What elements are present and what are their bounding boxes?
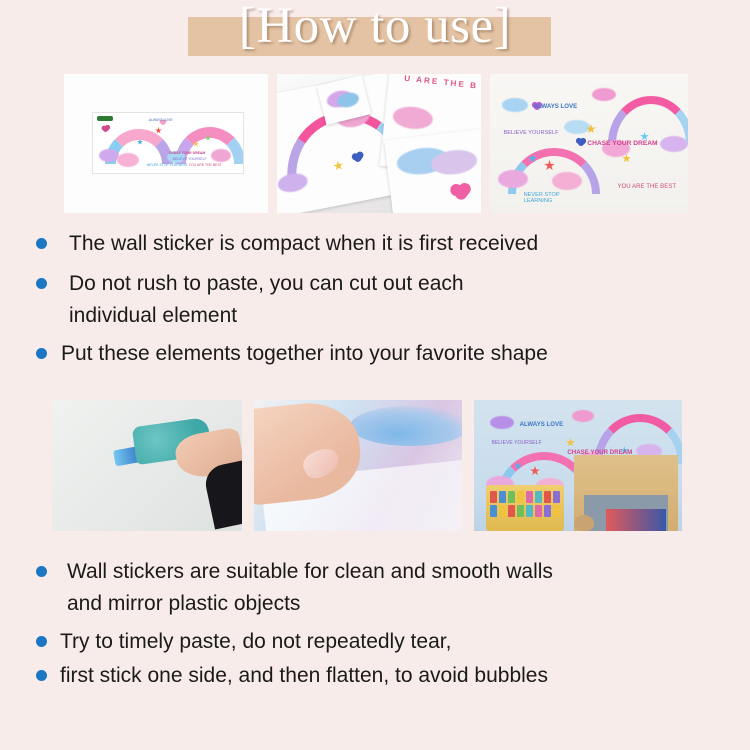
shelf-item: [526, 491, 533, 503]
cloud-blob: [572, 410, 594, 422]
shelf-item: [535, 505, 542, 517]
cloud-blob: [502, 98, 528, 112]
photo-arranged-wall-decal: ALWAYS LOVE BELIEVE YOURSELF CHASE YOUR …: [490, 74, 688, 213]
cloud-blob: [490, 416, 514, 429]
cloud-blob: [564, 120, 590, 134]
shelf-item: [517, 491, 524, 503]
instructions-list-bottom: Wall stickers are suitable for clean and…: [36, 556, 726, 692]
brand-label-badge: [97, 116, 113, 121]
sticker-phrase-you-are-the-best: YOU ARE THE BEST: [617, 184, 676, 190]
cloud-blob: [552, 172, 582, 190]
cloud-blob: [99, 149, 119, 162]
instruction-text: Wall stickers are suitable for clean and…: [67, 556, 553, 620]
bullet-dot-icon: [36, 670, 47, 681]
shelf-item: [517, 505, 524, 517]
shelf-item: [526, 505, 533, 517]
list-item: Put these elements together into your fa…: [36, 338, 726, 370]
sticker-phrase-never-stop-learning: NEVER STOP LEARNING: [147, 163, 188, 167]
page-title: [How to use]: [0, 0, 750, 56]
bunk-bed-rail: [574, 482, 678, 491]
shelf-item: [508, 505, 515, 517]
photo-wiping-wall-with-towel: [52, 400, 242, 531]
sticker-phrase-chase-your-dream: CHASE YOUR DREAM: [169, 151, 206, 155]
bullet-dot-icon: [36, 278, 47, 289]
list-item: first stick one side, and then flatten, …: [36, 660, 726, 692]
cloud-blob: [211, 149, 231, 162]
list-item: Do not rush to paste, you can cut out ea…: [36, 268, 726, 332]
toy-bookshelf: [486, 485, 564, 531]
photo-packaged-sticker-sheet: ALWAYS LOVE CHASE YOUR DREAM BELIEVE YOU…: [64, 74, 268, 213]
instruction-photo-row-top: ALWAYS LOVE CHASE YOUR DREAM BELIEVE YOU…: [64, 74, 688, 213]
instruction-photo-row-bottom: ALWAYS LOVE BELIEVE YOURSELF CHASE YOUR …: [52, 400, 694, 531]
page-header: [How to use]: [0, 0, 750, 66]
shelf-item: [499, 505, 506, 517]
sticker-sheet-artwork: ALWAYS LOVE CHASE YOUR DREAM BELIEVE YOU…: [92, 112, 244, 174]
sticker-phrase-partial: U ARE THE B: [404, 74, 479, 91]
bedding: [606, 509, 666, 531]
instructions-list-top: The wall sticker is compact when it is f…: [36, 228, 726, 370]
list-item: Wall stickers are suitable for clean and…: [36, 556, 726, 620]
cloud-blob: [277, 171, 309, 194]
sticker-phrase-you-are-the-best: YOU ARE THE BEST: [189, 163, 222, 167]
bullet-dot-icon: [36, 238, 47, 249]
cloud-blob: [392, 105, 434, 131]
sticker-phrase-never-stop-learning: NEVER STOP LEARNING: [524, 192, 565, 204]
photo-kids-bedroom-result: ALWAYS LOVE BELIEVE YOURSELF CHASE YOUR …: [474, 400, 682, 531]
heart-icon: [453, 185, 470, 202]
shelf-item: [499, 491, 506, 503]
shelf-item: [508, 491, 515, 503]
bullet-dot-icon: [36, 636, 47, 647]
cloud-blob: [592, 88, 616, 101]
instruction-text: The wall sticker is compact when it is f…: [69, 228, 538, 260]
sticker-phrase-believe-yourself: BELIEVE YOURSELF: [173, 157, 207, 161]
shelf-item: [553, 491, 560, 503]
bullet-dot-icon: [36, 566, 47, 577]
instruction-text: Put these elements together into your fa…: [61, 338, 548, 370]
shelf-item: [490, 491, 497, 503]
shelf-item: [553, 505, 560, 517]
shelf-item: [535, 491, 542, 503]
photo-cut-out-sticker-pieces: U ARE THE B: [277, 74, 481, 213]
list-item: The wall sticker is compact when it is f…: [36, 228, 726, 260]
heart-icon: [102, 126, 109, 133]
plush-toy: [574, 515, 594, 531]
cloud-artwork: [350, 406, 462, 446]
bullet-dot-icon: [36, 348, 47, 359]
photo-peeling-backing-film: [254, 400, 462, 531]
instruction-text: first stick one side, and then flatten, …: [60, 660, 548, 692]
sticker-sheet-lower: [384, 128, 481, 213]
sticker-phrase-believe-yourself: BELIEVE YOURSELF: [492, 440, 542, 446]
shelf-item: [544, 491, 551, 503]
sticker-phrase-always-love: ALWAYS LOVE: [520, 422, 564, 428]
list-item: Try to timely paste, do not repeatedly t…: [36, 626, 726, 658]
instruction-text: Do not rush to paste, you can cut out ea…: [69, 268, 464, 332]
shelf-item: [490, 505, 497, 517]
instruction-text: Try to timely paste, do not repeatedly t…: [60, 626, 451, 658]
sticker-phrase-chase-your-dream: CHASE YOUR DREAM: [587, 140, 657, 147]
cloud-blob: [660, 136, 688, 152]
shelf-item: [544, 505, 551, 517]
cloud-blob: [498, 170, 528, 188]
fingernail: [299, 443, 343, 482]
cloud-blob: [117, 153, 139, 167]
sticker-phrase-always-love: ALWAYS LOVE: [534, 104, 578, 110]
sticker-phrase-believe-yourself: BELIEVE YOURSELF: [503, 130, 558, 136]
sticker-phrase-always-love: ALWAYS LOVE: [149, 118, 173, 122]
